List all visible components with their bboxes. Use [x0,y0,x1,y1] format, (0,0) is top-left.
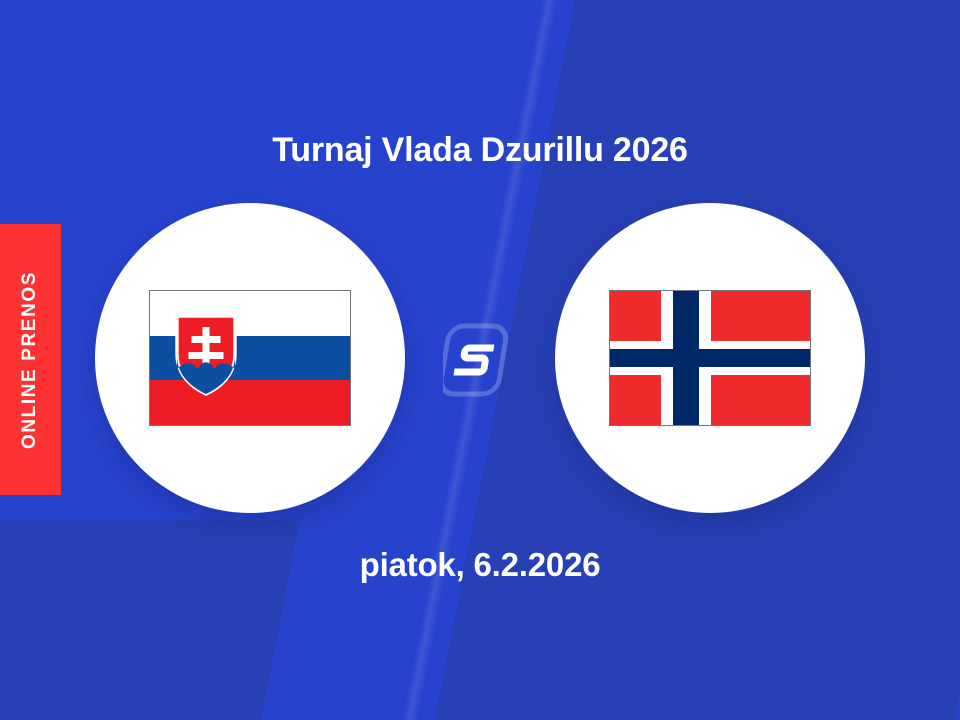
home-team-badge [95,203,405,513]
live-stream-label: ONLINE PRENOS [20,270,42,448]
match-date: piatok, 6.2.2026 [0,546,960,584]
slovakia-coat-of-arms-icon [175,314,237,396]
page-title: Turnaj Vlada Dzurillu 2026 [0,131,960,170]
s-logo-icon [443,312,517,408]
flag-cross-blue-vertical [673,291,699,425]
match-promo-graphic: ONLINE PRENOS Turnaj Vlada Dzurillu 2026 [0,0,960,720]
flag-cross-blue-horizontal [610,349,810,366]
away-team-badge [555,203,865,513]
norway-flag [609,290,811,426]
slovakia-flag [149,290,351,426]
live-stream-ribbon: ONLINE PRENOS [0,224,61,495]
